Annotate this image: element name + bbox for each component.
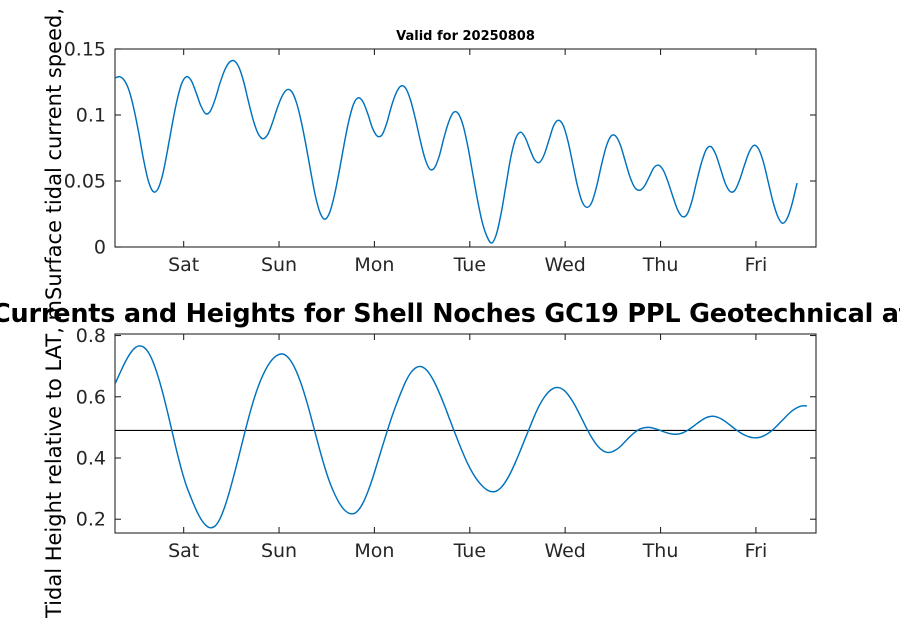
y-tick-label: 0.8 bbox=[76, 325, 106, 347]
x-tick-label: Thu bbox=[642, 540, 679, 562]
x-tick-label: Tue bbox=[453, 540, 486, 562]
x-tick-label: Mon bbox=[354, 254, 394, 276]
bottom-chart-plot: 0.20.40.60.8SatSunMonTueWedThuFri bbox=[0, 300, 900, 600]
top-chart-plot: 00.050.10.15SatSunMonTueWedThuFri bbox=[0, 0, 900, 300]
x-tick-label: Sat bbox=[168, 254, 199, 276]
x-tick-label: Fri bbox=[745, 254, 768, 276]
data-series-line bbox=[115, 346, 806, 528]
y-tick-label: 0.2 bbox=[76, 509, 106, 531]
y-tick-label: 0 bbox=[94, 237, 106, 259]
x-tick-label: Sun bbox=[261, 254, 297, 276]
y-tick-label: 0.15 bbox=[64, 39, 106, 61]
x-tick-label: Fri bbox=[745, 540, 768, 562]
x-tick-label: Sun bbox=[261, 540, 297, 562]
data-series-line bbox=[115, 60, 797, 243]
axes-box bbox=[115, 334, 816, 533]
x-tick-label: Wed bbox=[544, 540, 585, 562]
x-tick-label: Mon bbox=[354, 540, 394, 562]
y-tick-label: 0.6 bbox=[76, 386, 106, 408]
tidal-forecast-figure: Valid for 20250808 Surface tidal current… bbox=[0, 0, 900, 600]
x-tick-label: Sat bbox=[168, 540, 199, 562]
y-tick-label: 0.4 bbox=[76, 447, 106, 469]
x-tick-label: Wed bbox=[544, 254, 585, 276]
axes-box bbox=[115, 49, 816, 247]
y-tick-label: 0.1 bbox=[76, 105, 106, 127]
y-tick-label: 0.05 bbox=[64, 171, 106, 193]
x-tick-label: Thu bbox=[642, 254, 679, 276]
x-tick-label: Tue bbox=[453, 254, 486, 276]
